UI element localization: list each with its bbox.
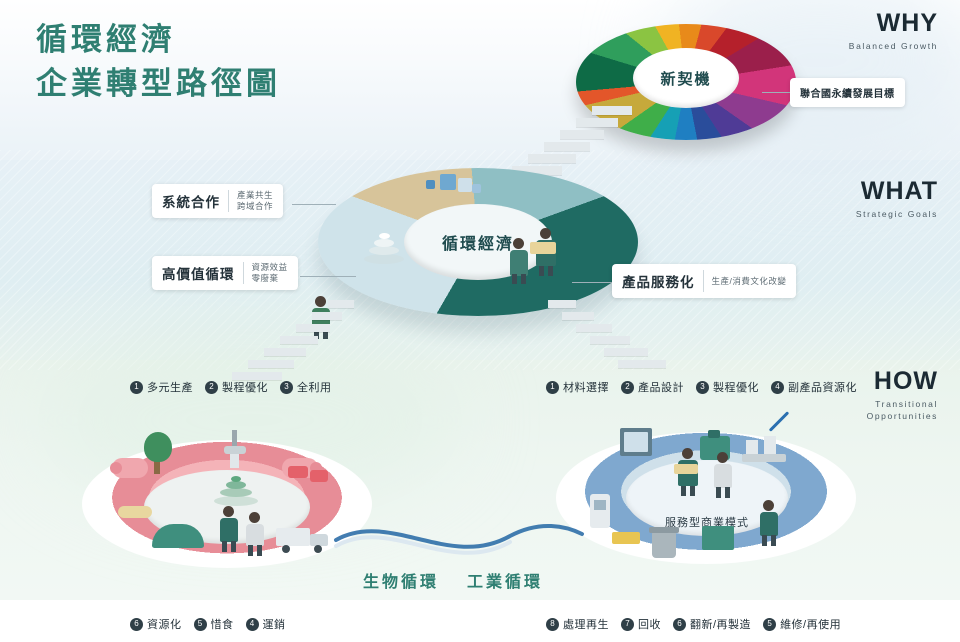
step-number: 5 [763,618,776,631]
step-number: 2 [205,381,218,394]
puzzle-piece-edge [472,184,481,193]
connector-sdg [762,92,792,93]
bio-cone-stack-icon [210,476,262,510]
step-bio-bottom-4[interactable]: 4 運銷 [246,616,286,632]
step-number: 1 [546,381,559,394]
callout-product-service-note1: 生產/消費文化改變 [712,276,787,287]
figure-bio-right [244,512,266,556]
connector-product-service [572,282,614,283]
callout-system-cooperation-note1: 產業共生 [237,190,273,201]
step-bio-top-1[interactable]: 1 多元生產 [130,379,193,395]
section-how-subtitle-line1: Transitional [867,398,938,410]
step-label: 維修/再使用 [780,616,841,632]
step-label: 製程優化 [222,379,268,395]
section-header-why: WHY Balanced Growth [849,10,938,52]
figure-bio-left [218,506,240,552]
puzzle-piece-light-blue [440,174,456,190]
puzzle-group-icon [416,170,492,204]
callout-high-value-cycle-note: 資源效益 零廢棄 [252,262,288,284]
step-industrial-bottom-6[interactable]: 6 翻新/再製造 [673,616,751,632]
step-industrial-top-1[interactable]: 1 材料選擇 [546,379,609,395]
step-label: 多元生產 [147,379,193,395]
callout-sdg-label: 聯合國永續發展目標 [800,85,895,100]
callout-sdg[interactable]: 聯合國永續發展目標 [790,78,905,107]
step-number: 8 [546,618,559,631]
stairs-to-bio [232,300,352,386]
gold-bar-icon [612,524,644,550]
spiral-cone-icon [356,228,412,272]
callout-divider [228,190,229,212]
blueprint-panel-icon [620,428,654,468]
step-industrial-top-4[interactable]: 4 副產品資源化 [771,379,857,395]
steps-industrial-bottom: 8 處理再生 7 回收 6 翻新/再製造 5 維修/再使用 [546,616,841,632]
figure-industrial-left [676,448,700,496]
step-industrial-bottom-5[interactable]: 5 維修/再使用 [763,616,841,632]
step-industrial-top-3[interactable]: 3 製程優化 [696,379,759,395]
step-bio-bottom-5[interactable]: 5 惜食 [194,616,234,632]
section-how-subtitle-line2: Opportunities [867,410,938,422]
section-why-subtitle: Balanced Growth [849,40,938,52]
section-header-how: HOW Transitional Opportunities [867,368,938,422]
step-label: 全利用 [297,379,332,395]
callout-system-cooperation-label: 系統合作 [162,191,220,211]
step-bio-top-2[interactable]: 2 製程優化 [205,379,268,395]
step-number: 6 [130,618,143,631]
page-title: 循環經濟 企業轉型路徑圖 [36,18,281,106]
figure-ring-left [508,238,530,284]
step-number: 4 [771,381,784,394]
pig-icon-left [110,452,154,482]
puzzle-piece-blue [426,180,435,189]
step-industrial-bottom-8[interactable]: 8 處理再生 [546,616,609,632]
lab-equipment-icon [222,430,248,474]
delivery-truck-icon [276,524,332,556]
section-what-subtitle: Strategic Goals [856,208,938,220]
puzzle-piece-pale [458,178,472,192]
step-label: 副產品資源化 [788,379,857,395]
step-label: 回收 [638,616,661,632]
tower-machine-icon [586,494,614,542]
step-number: 7 [621,618,634,631]
callout-system-cooperation-note2: 跨域合作 [237,201,273,212]
step-bio-top-3[interactable]: 3 全利用 [280,379,332,395]
step-number: 1 [130,381,143,394]
step-label: 資源化 [147,616,182,632]
callout-product-service-label: 產品服務化 [622,271,695,291]
connector-system-cooperation [292,204,336,205]
callout-high-value-cycle-note2: 零廢棄 [252,273,288,284]
step-label: 材料選擇 [563,379,609,395]
section-what-title: WHAT [856,178,938,205]
step-label: 翻新/再製造 [690,616,751,632]
step-number: 3 [280,381,293,394]
section-how-title: HOW [867,368,938,395]
figure-industrial-right [712,452,734,498]
conveyor-icon [742,432,788,472]
steps-bio-top: 1 多元生產 2 製程優化 3 全利用 [130,379,332,395]
figure-industrial-worker [758,500,780,546]
greenhouse-icon [152,518,206,552]
steps-industrial-top: 1 材料選擇 2 產品設計 3 製程優化 4 副產品資源化 [546,379,857,395]
waste-bin-icon [648,526,682,560]
section-why-title: WHY [849,10,938,37]
callout-divider [243,262,244,284]
step-industrial-bottom-7[interactable]: 7 回收 [621,616,661,632]
infographic-canvas: 循環經濟 企業轉型路徑圖 WHY Balanced Growth WHAT St… [0,0,960,642]
step-number: 3 [696,381,709,394]
industrial-cycle-label: 工業循環 [467,568,543,592]
step-label: 產品設計 [638,379,684,395]
step-industrial-top-2[interactable]: 2 產品設計 [621,379,684,395]
callout-high-value-cycle-note1: 資源效益 [252,262,288,273]
callout-system-cooperation-note: 產業共生 跨域合作 [237,190,273,212]
page-title-line1: 循環經濟 [36,22,176,57]
step-number: 6 [673,618,686,631]
step-bio-bottom-6[interactable]: 6 資源化 [130,616,182,632]
figure-ring-right [534,228,558,276]
callout-divider [703,270,704,292]
step-number: 5 [194,618,207,631]
step-label: 惜食 [211,616,234,632]
section-header-what: WHAT Strategic Goals [856,178,938,220]
callout-system-cooperation[interactable]: 系統合作 產業共生 跨域合作 [152,184,283,218]
meat-cuts-icon [288,466,330,488]
callout-high-value-cycle-label: 高價值循環 [162,263,235,283]
biological-cycle-label: 生物循環 [363,568,439,592]
callout-product-service-note: 生產/消費文化改變 [712,276,787,287]
connector-high-value-cycle [300,276,356,277]
callout-high-value-cycle[interactable]: 高價值循環 資源效益 零廢棄 [152,256,298,290]
step-label: 製程優化 [713,379,759,395]
step-label: 運銷 [263,616,286,632]
step-label: 處理再生 [563,616,609,632]
step-number: 4 [246,618,259,631]
stairs-to-industrial [540,300,670,386]
recycle-box-icon [700,516,738,556]
steps-bio-bottom: 6 資源化 5 惜食 4 運銷 [130,616,286,632]
page-title-line2: 企業轉型路徑圖 [36,62,281,106]
wheel-center-label: 新契機 [633,48,739,108]
step-number: 2 [621,381,634,394]
callout-product-service[interactable]: 產品服務化 生產/消費文化改變 [612,264,796,298]
